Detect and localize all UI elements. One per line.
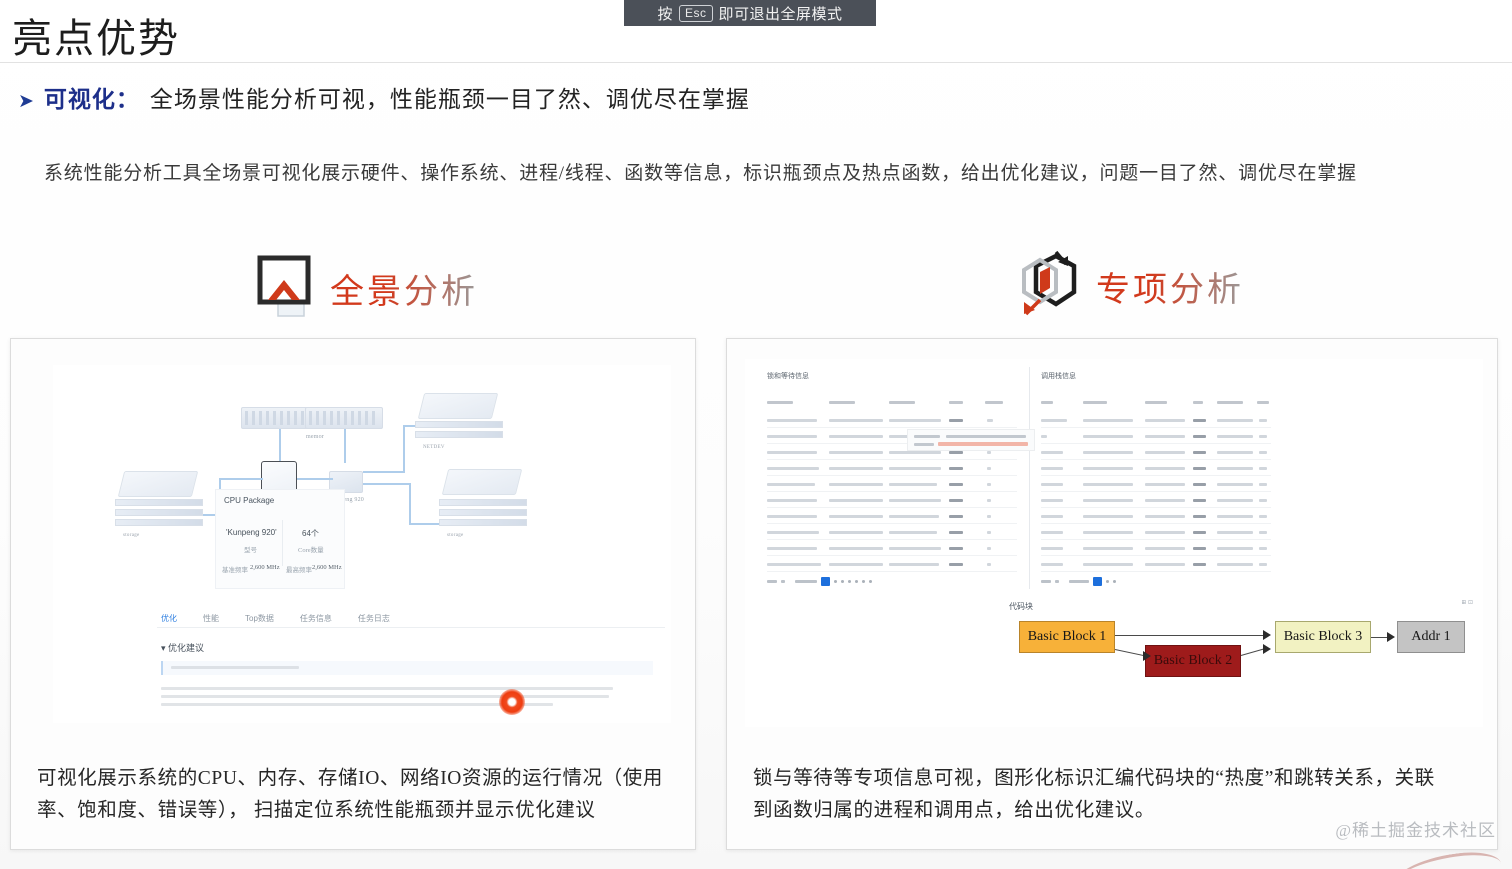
arrow-head-icon <box>1263 644 1271 654</box>
memory-label: memor <box>306 434 324 440</box>
slide-page: 按 Esc 即可退出全屏模式 亮点优势 ➤ 可视化： 全场景性能分析可视，性能瓶… <box>0 0 1512 869</box>
page-title: 亮点优势 <box>12 6 180 64</box>
section-title-specialized: 专项分析 <box>1096 262 1244 311</box>
corner-decoration <box>1382 845 1502 869</box>
code-block-label: 代码块 <box>1009 601 1033 612</box>
bullet-row: ➤ 可视化： 全场景性能分析可视，性能瓶颈一目了然、调优尽在掌握 <box>18 80 750 114</box>
tab-underline <box>157 627 665 628</box>
title-divider <box>0 62 1512 63</box>
panorama-caption: 可视化展示系统的CPU、内存、存储IO、网络IO资源的运行情况（使用 率、饱和度… <box>37 763 675 827</box>
link <box>279 429 281 463</box>
table-row[interactable] <box>767 461 1017 476</box>
tooltip-prefix: 按 <box>657 3 673 24</box>
right-pagination[interactable] <box>1041 577 1116 586</box>
node-label: storage <box>447 533 464 538</box>
max-freq-key: 最高频率 <box>286 564 312 574</box>
analysis-tabs: 优化 性能 Top数据 任务信息 任务日志 <box>161 613 390 628</box>
tab-task-log[interactable]: 任务日志 <box>358 613 390 628</box>
pagination-active-page[interactable] <box>1093 577 1102 586</box>
table-row[interactable] <box>1041 445 1271 460</box>
table-row[interactable] <box>1041 461 1271 476</box>
bullet-keyword: 可视化： <box>44 80 140 114</box>
table-row[interactable] <box>1041 477 1271 492</box>
link <box>363 471 405 473</box>
tab-optimization[interactable]: 优化 <box>161 613 177 628</box>
panorama-card: memor qpeng 920 <box>10 338 696 850</box>
base-freq-value: 2,600 MHz <box>250 564 280 571</box>
panorama-screenshot: memor qpeng 920 <box>53 365 671 723</box>
topology-diagram: memor qpeng 920 <box>53 365 671 597</box>
arrow-head-icon <box>1263 630 1271 640</box>
link <box>297 478 333 480</box>
left-pagination[interactable] <box>767 577 872 586</box>
section-header-specialized: 专项分析 <box>1018 250 1244 322</box>
basic-block-1[interactable]: Basic Block 1 <box>1019 621 1115 653</box>
table-row[interactable] <box>1041 509 1271 524</box>
tab-top-data[interactable]: Top数据 <box>245 613 274 628</box>
link <box>409 483 411 525</box>
basic-block-2[interactable]: Basic Block 2 <box>1145 645 1241 677</box>
link <box>221 478 263 480</box>
right-table-header <box>1041 397 1271 408</box>
panorama-caption-line1: 可视化展示系统的CPU、内存、存储IO、网络IO资源的运行情况（使用 <box>37 763 675 795</box>
optimization-panel: 优化 性能 Top数据 任务信息 任务日志 ▾ 优化建议 <box>157 605 665 723</box>
table-row[interactable] <box>767 557 1017 572</box>
pagination-active-page[interactable] <box>821 577 830 586</box>
table-row[interactable] <box>767 509 1017 524</box>
table-row[interactable] <box>1041 541 1271 556</box>
table-row[interactable] <box>767 525 1017 540</box>
base-freq-key: 基准频率 <box>222 564 248 574</box>
basic-block-3[interactable]: Basic Block 3 <box>1275 621 1371 653</box>
max-freq-value: 2,600 MHz <box>312 564 342 571</box>
tab-task-info[interactable]: 任务信息 <box>300 613 332 628</box>
node-label: storage <box>123 533 140 538</box>
node-label: NETDEV <box>423 445 445 450</box>
table-row[interactable] <box>767 413 1017 428</box>
table-row[interactable] <box>1041 429 1271 444</box>
lead-paragraph: 系统性能分析工具全场景可视化展示硬件、操作系统、进程/线程、函数等信息，标识瓶颈… <box>44 158 1444 185</box>
cpu-model-key: 型号 <box>244 544 257 554</box>
link <box>403 425 405 473</box>
left-table-title: 锁和等待信息 <box>767 371 809 381</box>
edge-bb1-to-bb3 <box>1115 635 1265 636</box>
tab-performance[interactable]: 性能 <box>203 613 219 628</box>
lock-wait-panel: 锁和等待信息 调用栈信息 <box>745 359 1483 727</box>
cpu-cores-key: Core数量 <box>298 544 324 554</box>
bullet-text: 全场景性能分析可视，性能瓶颈一目了然、调优尽在掌握 <box>150 80 750 114</box>
table-row[interactable] <box>1041 493 1271 508</box>
link <box>363 483 411 485</box>
panel-divider <box>1029 367 1030 589</box>
table-row[interactable] <box>1041 525 1271 540</box>
left-table-header <box>767 397 1017 408</box>
watermark: @稀土掘金技术社区 <box>1335 816 1496 841</box>
table-row[interactable] <box>1041 413 1271 428</box>
hexagon-with-red-arrows-icon <box>1018 250 1080 322</box>
row-hover-tooltip <box>907 429 1035 451</box>
cpu-package-info-card: CPU Package 'Kunpeng 920' 型号 64个 Core数量 … <box>215 489 345 589</box>
specialized-screenshot: 锁和等待信息 调用栈信息 <box>745 359 1483 727</box>
square-with-red-roof-icon <box>252 252 314 324</box>
edge-bb1-to-bb2 <box>1115 649 1147 657</box>
red-click-indicator <box>499 689 525 715</box>
cpu-cores-value: 64个 <box>302 528 319 539</box>
fullscreen-exit-tooltip: 按 Esc 即可退出全屏模式 <box>624 0 876 26</box>
code-block-tools[interactable]: ⊞ ⊡ <box>1461 599 1473 606</box>
specialized-caption-line1: 锁与等待等专项信息可视，图形化标识汇编代码块的“热度”和跳转关系，关联 <box>753 763 1477 795</box>
panorama-caption-line2: 率、饱和度、错误等）， 扫描定位系统性能瓶颈并显示优化建议 <box>37 795 675 827</box>
section-title-panorama: 全景分析 <box>330 264 478 313</box>
optimization-suggestion-toggle[interactable]: ▾ 优化建议 <box>161 641 204 654</box>
table-row[interactable] <box>767 493 1017 508</box>
suggestion-note <box>161 661 653 675</box>
arrow-bullet-icon: ➤ <box>18 90 34 113</box>
section-header-panorama: 全景分析 <box>252 252 478 324</box>
arrow-head-icon <box>1387 632 1395 642</box>
network-node: NETDEV <box>415 393 511 457</box>
link <box>344 429 346 463</box>
info-card-title: CPU Package <box>224 496 274 505</box>
table-row[interactable] <box>1041 557 1271 572</box>
storage-node: storage <box>439 467 535 543</box>
esc-key-badge: Esc <box>679 5 713 22</box>
cpu-model-value: 'Kunpeng 920' <box>226 528 277 537</box>
memory-module <box>305 407 383 429</box>
table-row[interactable] <box>767 541 1017 556</box>
specialized-card: 锁和等待信息 调用栈信息 <box>726 338 1498 850</box>
right-table-title: 调用栈信息 <box>1041 371 1076 381</box>
table-row[interactable] <box>767 477 1017 492</box>
arrow-head-icon <box>1143 651 1151 661</box>
storage-node: storage <box>115 469 211 541</box>
addr-1-block[interactable]: Addr 1 <box>1397 621 1465 653</box>
tooltip-suffix: 即可退出全屏模式 <box>719 3 843 24</box>
